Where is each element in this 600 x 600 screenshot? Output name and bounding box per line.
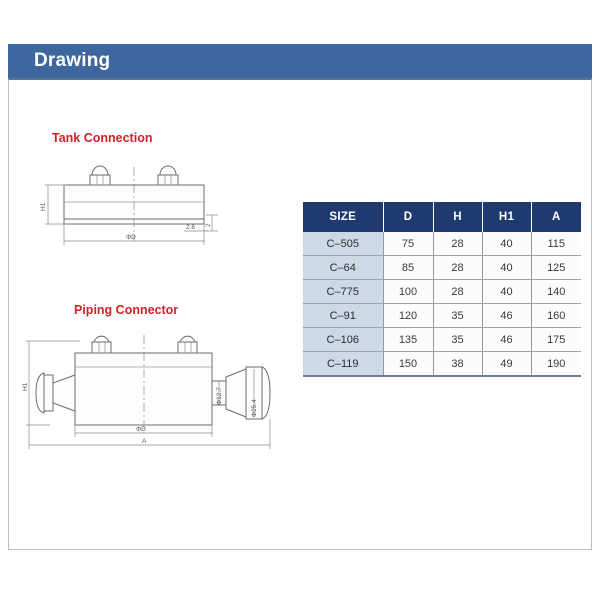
bolt-left (90, 166, 110, 185)
drawing-page: Drawing Tank Connection (0, 0, 600, 600)
table-row: C–64 85 28 40 125 (303, 256, 581, 280)
dim-tank-thickness: 2 (205, 223, 212, 227)
bolt-right (178, 336, 197, 353)
cell-size: C–91 (303, 304, 383, 328)
cell-h: 28 (433, 256, 482, 280)
cell-d: 85 (383, 256, 433, 280)
cell-h: 28 (433, 232, 482, 256)
cell-d: 150 (383, 352, 433, 377)
table-row: C–91 120 35 46 160 (303, 304, 581, 328)
specification-table: SIZE D H H1 A C–505 75 28 40 115 C–64 85… (303, 202, 581, 377)
dim-tank-diameter: ΦD (126, 234, 136, 241)
cell-h1: 49 (482, 352, 531, 377)
cell-a: 160 (531, 304, 581, 328)
section-title-tank: Tank Connection (52, 131, 152, 145)
cell-a: 175 (531, 328, 581, 352)
cell-a: 115 (531, 232, 581, 256)
cell-a: 190 (531, 352, 581, 377)
column-header-h1: H1 (482, 202, 531, 232)
cell-d: 100 (383, 280, 433, 304)
cell-h1: 40 (482, 232, 531, 256)
left-ferrule (36, 373, 75, 413)
cell-size: C–64 (303, 256, 383, 280)
dim-piping-overall: A (142, 438, 147, 445)
section-title-piping: Piping Connector (74, 303, 178, 317)
cell-size: C–106 (303, 328, 383, 352)
header-bar: Drawing (8, 44, 592, 78)
piping-connector-drawing: H1 Φ12.7 Φ25.4 ΦD A (20, 325, 295, 460)
column-header-d: D (383, 202, 433, 232)
column-header-h: H (433, 202, 482, 232)
cell-d: 75 (383, 232, 433, 256)
bolt-left (92, 336, 111, 353)
tank-connection-drawing: H1 ΦD 2.6 2 (36, 155, 266, 255)
cell-h1: 40 (482, 256, 531, 280)
table-row: C–775 100 28 40 140 (303, 280, 581, 304)
table-row: C–505 75 28 40 115 (303, 232, 581, 256)
cell-size: C–775 (303, 280, 383, 304)
table-row: C–119 150 38 49 190 (303, 352, 581, 377)
cell-d: 120 (383, 304, 433, 328)
cell-h: 35 (433, 304, 482, 328)
column-header-size: SIZE (303, 202, 383, 232)
cell-d: 135 (383, 328, 433, 352)
cell-a: 125 (531, 256, 581, 280)
cell-h1: 46 (482, 328, 531, 352)
cell-size: C–505 (303, 232, 383, 256)
bolt-right (158, 166, 178, 185)
cell-h1: 40 (482, 280, 531, 304)
column-header-a: A (531, 202, 581, 232)
cell-h: 38 (433, 352, 482, 377)
page-title: Drawing (34, 50, 110, 72)
dim-piping-inner-port: Φ12.7 (216, 387, 223, 405)
cell-h: 35 (433, 328, 482, 352)
table-header-row: SIZE D H H1 A (303, 202, 581, 232)
cell-a: 140 (531, 280, 581, 304)
dim-tank-offset: 2.6 (186, 224, 195, 231)
dim-piping-outer-port: Φ25.4 (251, 399, 258, 417)
cell-h1: 46 (482, 304, 531, 328)
dim-tank-h1: H1 (40, 202, 47, 211)
cell-size: C–119 (303, 352, 383, 377)
dim-piping-h1: H1 (22, 382, 29, 391)
cell-h: 28 (433, 280, 482, 304)
dim-piping-diameter: ΦD (136, 426, 146, 433)
table-row: C–106 135 35 46 175 (303, 328, 581, 352)
